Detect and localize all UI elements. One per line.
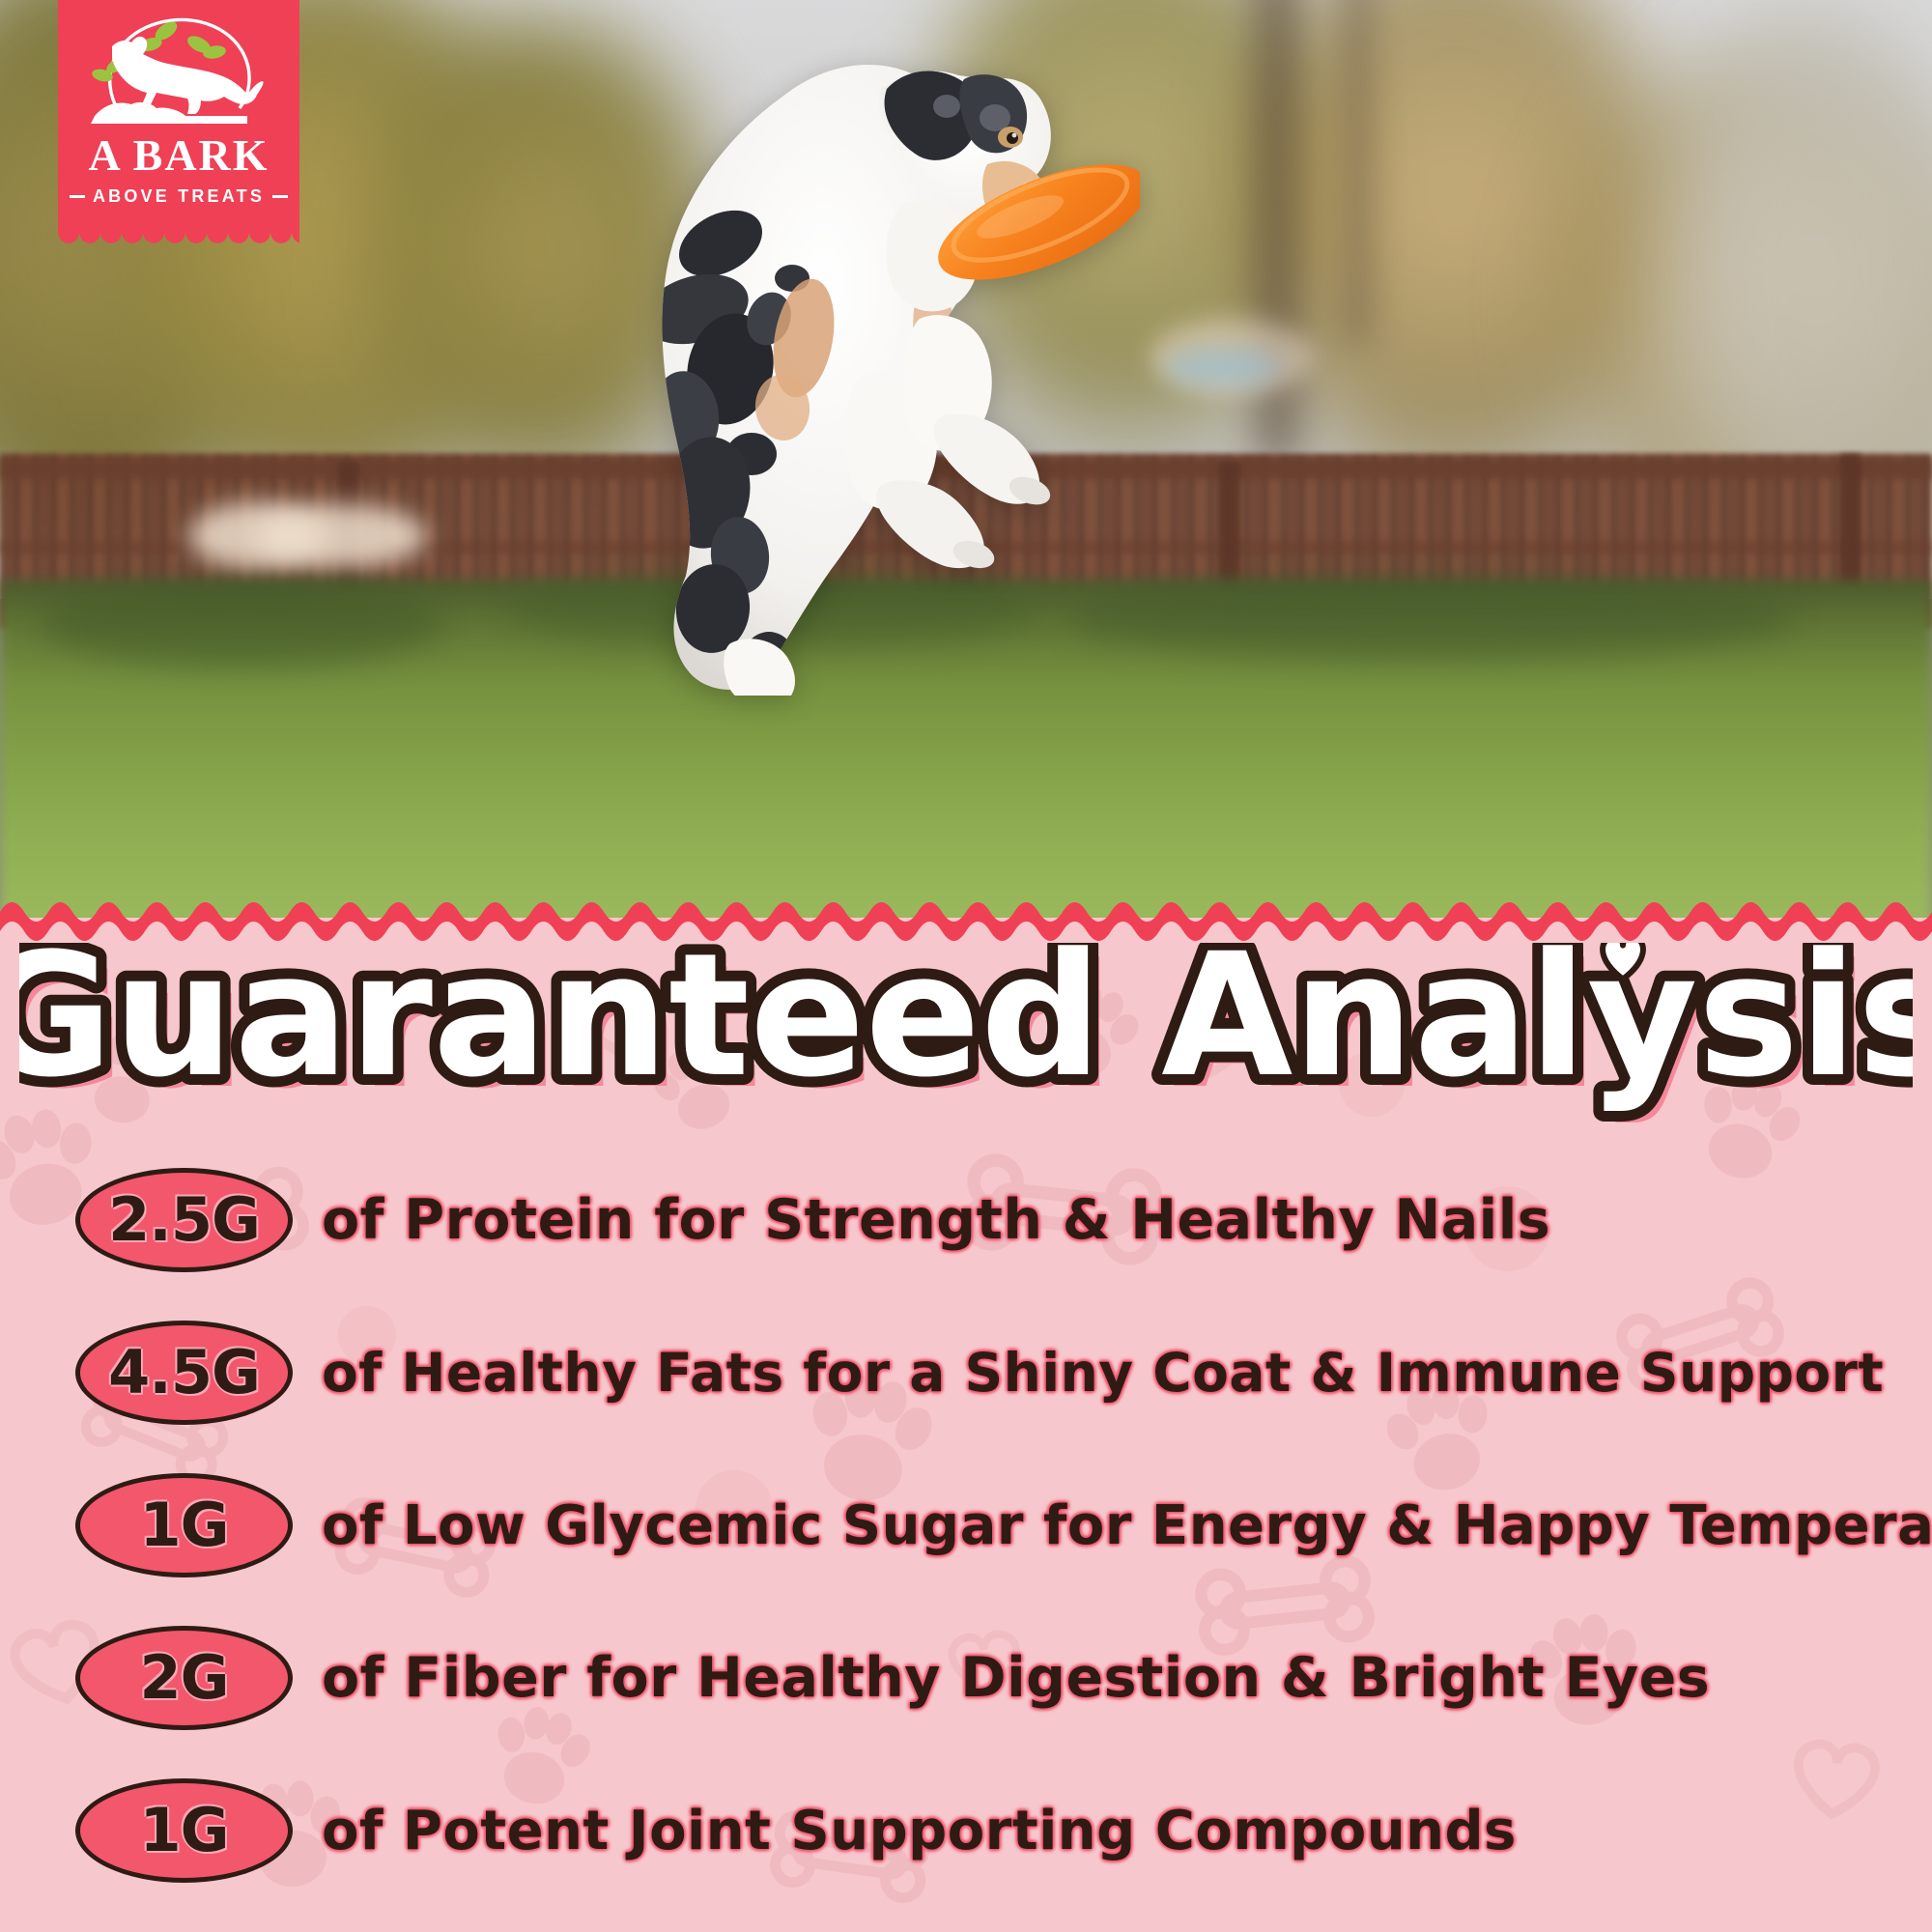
tagline-dash-right: [272, 195, 288, 198]
tree-trunk: [1343, 0, 1372, 348]
logo-tagline: ABOVE TREATS: [58, 186, 299, 207]
analysis-row: 1G of Low Glycemic Sugar for Energy & Ha…: [0, 1449, 1932, 1602]
tree-trunk: [1254, 0, 1300, 464]
brand-logo-banner[interactable]: A BARK ABOVE TREATS: [58, 0, 299, 234]
background-blur-highlight: [253, 504, 427, 568]
page-title: Guaranteed Analysis Guaranteed Analysis …: [0, 929, 1932, 1140]
logo-brand-name: A BARK: [58, 133, 299, 178]
guaranteed-analysis-panel: Guaranteed Analysis Guaranteed Analysis …: [0, 929, 1932, 1932]
dog-photo-subject: [541, 29, 1140, 696]
analysis-row: 1G of Potent Joint Supporting Compounds: [0, 1754, 1932, 1907]
analysis-row: 2G of Fiber for Healthy Digestion & Brig…: [0, 1602, 1932, 1754]
amount-badge: 1G: [75, 1473, 293, 1577]
amount-badge: 4.5G: [75, 1321, 293, 1425]
amount-badge-value: 2.5G: [108, 1190, 260, 1250]
amount-badge-value: 1G: [139, 1495, 228, 1555]
tagline-dash-left: [70, 195, 85, 198]
analysis-row: 2.5G of Protein for Strength & Healthy N…: [0, 1144, 1932, 1296]
grass-tuft: [1063, 576, 1797, 659]
guaranteed-analysis-poster: A BARK ABOVE TREATS: [0, 0, 1932, 1932]
nutrient-description: of Low Glycemic Sugar for Energy & Happy…: [322, 1494, 1932, 1557]
analysis-rows: 2.5G of Protein for Strength & Healthy N…: [0, 1144, 1932, 1907]
amount-badge: 2G: [75, 1626, 293, 1730]
amount-badge-value: 4.5G: [108, 1343, 260, 1403]
nutrient-description: of Healthy Fats for a Shiny Coat & Immun…: [322, 1342, 1884, 1404]
howling-dog-with-leaves-icon: [58, 12, 299, 129]
nutrient-description: of Fiber for Healthy Digestion & Bright …: [322, 1646, 1710, 1710]
wavy-divider: [0, 898, 1932, 943]
background-blur-highlight: [1164, 348, 1280, 386]
amount-badge-value: 1G: [139, 1801, 228, 1861]
amount-badge: 2.5G: [75, 1168, 293, 1272]
amount-badge-value: 2G: [139, 1648, 228, 1708]
nutrient-description: of Protein for Strength & Healthy Nails: [322, 1188, 1550, 1252]
analysis-row: 4.5G of Healthy Fats for a Shiny Coat & …: [0, 1296, 1932, 1449]
amount-badge: 1G: [75, 1778, 293, 1883]
hero-photo: A BARK ABOVE TREATS: [0, 0, 1932, 918]
nutrient-description: of Potent Joint Supporting Compounds: [322, 1800, 1517, 1862]
grass-tuft: [39, 580, 444, 667]
logo-tagline-text: ABOVE TREATS: [93, 186, 265, 207]
